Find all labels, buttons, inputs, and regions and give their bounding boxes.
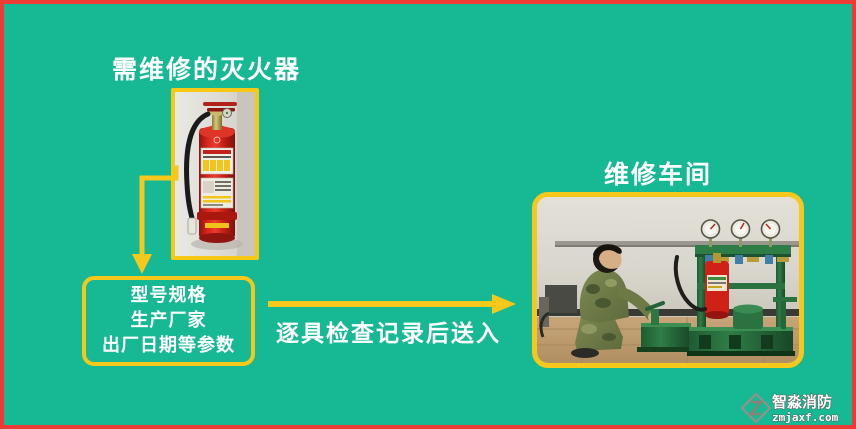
page-title-workshop: 维修车间 bbox=[604, 159, 712, 190]
watermark-brand-text: 智淼消防 bbox=[772, 393, 832, 411]
arrow-right-icon bbox=[266, 292, 516, 316]
workshop-photo-graphic bbox=[537, 197, 799, 363]
zhimiao-diamond-logo-icon: 智淼消防 zmjaxf.com bbox=[740, 390, 852, 428]
spec-line-manufacturer: 生产厂家 bbox=[131, 309, 207, 333]
photo-workshop bbox=[532, 192, 804, 368]
elbow-arrow-down-icon bbox=[104, 162, 184, 282]
spec-line-model: 型号规格 bbox=[131, 284, 207, 308]
arrow-caption: 逐具检查记录后送入 bbox=[276, 320, 501, 349]
watermark: 智淼消防 zmjaxf.com bbox=[740, 390, 852, 428]
page-title-extinguisher: 需维修的灭火器 bbox=[112, 54, 301, 85]
spec-line-date-params: 出厂日期等参数 bbox=[102, 334, 235, 358]
slide-canvas: 需维修的灭火器 bbox=[0, 0, 856, 429]
extinguisher-photo-graphic bbox=[175, 92, 255, 256]
photo-extinguisher bbox=[171, 88, 259, 260]
watermark-site-text: zmjaxf.com bbox=[772, 411, 839, 424]
spec-box: 型号规格 生产厂家 出厂日期等参数 bbox=[82, 276, 255, 366]
